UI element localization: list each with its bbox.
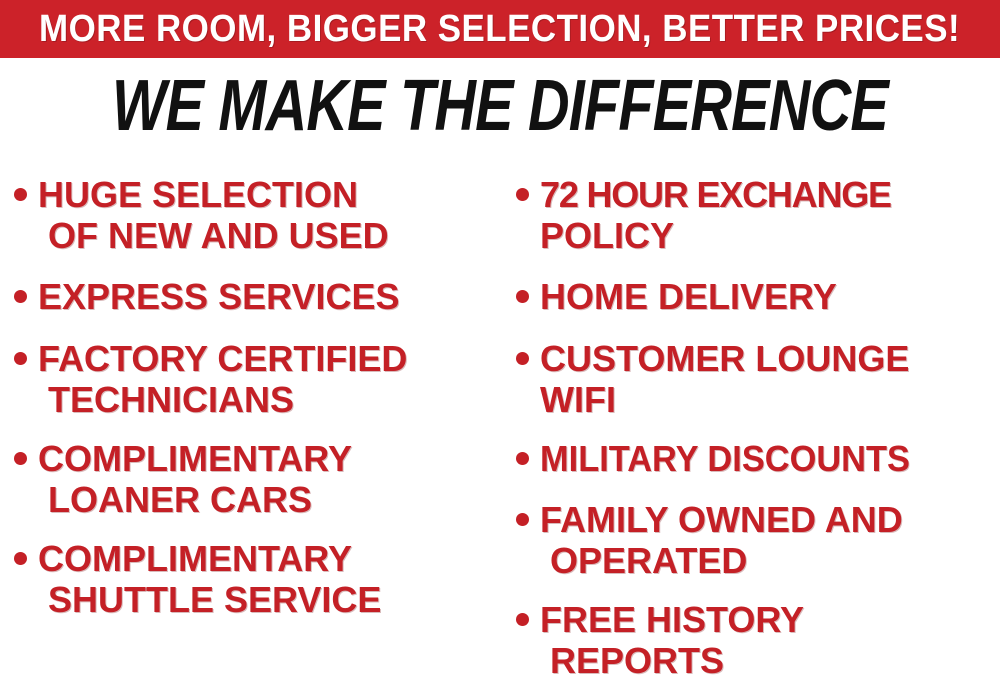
bullet-dot-icon — [14, 552, 27, 565]
list-item: HUGE SELECTION OF NEW AND USED — [14, 174, 389, 256]
list-item-text: COMPLIMENTARY LOANER CARS — [38, 438, 352, 520]
promo-banner-text: MORE ROOM, BIGGER SELECTION, BETTER PRIC… — [39, 10, 960, 48]
list-item-line: LOANER CARS — [38, 479, 352, 520]
list-item: 72 HOUR EXCHANGE POLICY — [516, 174, 891, 256]
bullet-dot-icon — [516, 290, 529, 303]
bullet-dot-icon — [14, 188, 27, 201]
list-item-text: EXPRESS SERVICES — [38, 276, 399, 317]
list-item-text: HUGE SELECTION OF NEW AND USED — [38, 174, 389, 256]
list-item-line: FACTORY CERTIFIED — [38, 338, 407, 379]
bullet-dot-icon — [516, 452, 529, 465]
list-item: EXPRESS SERVICES — [14, 276, 399, 317]
benefits-column-left: HUGE SELECTION OF NEW AND USED EXPRESS S… — [14, 160, 500, 694]
bullet-dot-icon — [516, 352, 529, 365]
list-item-line: CUSTOMER LOUNGE — [540, 338, 909, 379]
bullet-dot-icon — [516, 513, 529, 526]
list-item: CUSTOMER LOUNGE WIFI — [516, 338, 909, 420]
list-item-line: FAMILY OWNED AND — [540, 499, 903, 540]
bullet-dot-icon — [14, 290, 27, 303]
list-item-text: CUSTOMER LOUNGE WIFI — [540, 338, 909, 420]
list-item: FREE HISTORY REPORTS — [516, 599, 804, 681]
benefits-columns: HUGE SELECTION OF NEW AND USED EXPRESS S… — [0, 160, 1000, 694]
list-item-line: COMPLIMENTARY — [38, 538, 381, 579]
list-item-line: 72 HOUR EXCHANGE — [540, 174, 891, 215]
list-item: MILITARY DISCOUNTS — [516, 438, 927, 479]
list-item-text: HOME DELIVERY — [540, 276, 837, 317]
promo-banner: MORE ROOM, BIGGER SELECTION, BETTER PRIC… — [0, 0, 1000, 58]
list-item: COMPLIMENTARY SHUTTLE SERVICE — [14, 538, 381, 620]
list-item-line: OF NEW AND USED — [38, 215, 389, 256]
list-item-line: TECHNICIANS — [38, 379, 407, 420]
page-title: WE MAKE THE DIFFERENCE — [112, 70, 888, 142]
list-item-line: COMPLIMENTARY — [38, 438, 352, 479]
promo-poster: MORE ROOM, BIGGER SELECTION, BETTER PRIC… — [0, 0, 1000, 694]
list-item: COMPLIMENTARY LOANER CARS — [14, 438, 352, 520]
list-item-line: HUGE SELECTION — [38, 174, 389, 215]
list-item-line: MILITARY DISCOUNTS — [540, 438, 910, 479]
list-item-text: FACTORY CERTIFIED TECHNICIANS — [38, 338, 407, 420]
list-item-line: SHUTTLE SERVICE — [38, 579, 381, 620]
list-item-line: FREE HISTORY — [540, 599, 804, 640]
benefits-column-right: 72 HOUR EXCHANGE POLICY HOME DELIVERY CU… — [516, 160, 1000, 694]
list-item: HOME DELIVERY — [516, 276, 837, 317]
headline-container: WE MAKE THE DIFFERENCE — [0, 70, 1000, 142]
list-item-line: EXPRESS SERVICES — [38, 276, 399, 317]
list-item-text: FREE HISTORY REPORTS — [540, 599, 804, 681]
list-item: FACTORY CERTIFIED TECHNICIANS — [14, 338, 407, 420]
list-item-text: 72 HOUR EXCHANGE POLICY — [540, 174, 891, 256]
bullet-dot-icon — [14, 452, 27, 465]
list-item-text: COMPLIMENTARY SHUTTLE SERVICE — [38, 538, 381, 620]
list-item-text: MILITARY DISCOUNTS — [540, 438, 927, 479]
bullet-dot-icon — [516, 613, 529, 626]
list-item-line: POLICY — [540, 215, 891, 256]
bullet-dot-icon — [516, 188, 529, 201]
list-item-line: HOME DELIVERY — [540, 276, 837, 317]
bullet-dot-icon — [14, 352, 27, 365]
list-item-line: REPORTS — [540, 640, 804, 681]
list-item-line: WIFI — [540, 379, 909, 420]
list-item: FAMILY OWNED AND OPERATED — [516, 499, 903, 581]
list-item-text: FAMILY OWNED AND OPERATED — [540, 499, 903, 581]
list-item-line: OPERATED — [540, 540, 903, 581]
